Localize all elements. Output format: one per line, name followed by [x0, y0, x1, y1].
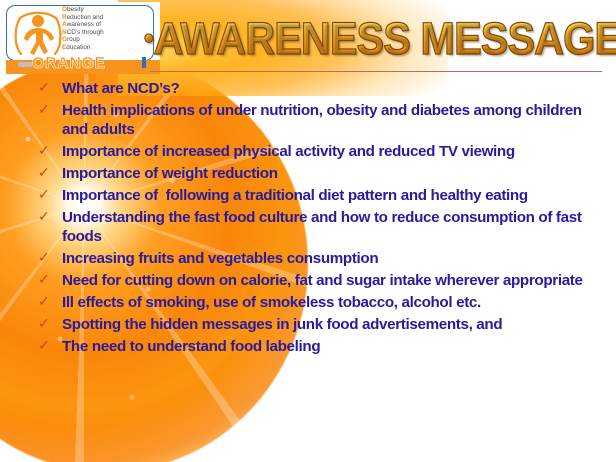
list-item: ✓ Ill effects of smoking, use of smokele… — [34, 293, 610, 312]
list-item-label: Need for cutting down on calorie, fat an… — [62, 271, 610, 290]
list-item: ✓ Importance of following a traditional … — [34, 186, 610, 205]
list-item: ✓ Spotting the hidden messages in junk f… — [34, 315, 610, 334]
list-item: ✓ Importance of weight reduction — [34, 164, 610, 183]
check-icon: ✓ — [34, 164, 62, 183]
check-icon: ✓ — [34, 249, 62, 268]
list-item-label: What are NCD’s? — [62, 79, 610, 98]
list-item-label: Spotting the hidden messages in junk foo… — [62, 315, 610, 334]
logo-line-reduction: Reduction and — [62, 14, 154, 22]
check-icon: ✓ — [34, 293, 62, 312]
skipping-person-icon — [12, 8, 64, 60]
list-item: ✓ Understanding the fast food culture an… — [34, 208, 610, 246]
title-bullet-icon: • — [144, 22, 153, 56]
list-item: ✓ Need for cutting down on calorie, fat … — [34, 271, 610, 290]
logo-line-group: Group — [62, 36, 154, 44]
title-underline-rule — [150, 71, 602, 72]
list-item-label: Importance of weight reduction — [62, 164, 610, 183]
check-icon: ✓ — [34, 142, 62, 161]
logo-rest-o: besity — [67, 6, 84, 13]
check-icon: ✓ — [34, 315, 62, 334]
logo-rest-g: roup — [67, 36, 80, 43]
list-item-label: Health implications of under nutrition, … — [62, 101, 610, 139]
list-item: ✓ Health implications of under nutrition… — [34, 101, 610, 139]
logo-line-awareness: Awareness of — [62, 21, 154, 29]
orange-logo: Obesity Reduction and Awareness of NCD's… — [2, 2, 160, 74]
logo-rest-e: ducation — [66, 44, 90, 51]
check-icon: ✓ — [34, 186, 62, 205]
logo-line-ncd: NCD's through — [62, 29, 154, 37]
presentation-slide: Obesity Reduction and Awareness of NCD's… — [0, 0, 616, 462]
slide-title: •AWARENESS MESSAGES — [144, 13, 616, 65]
logo-expansion-text: Obesity Reduction and Awareness of NCD's… — [62, 6, 154, 52]
check-icon: ✓ — [34, 208, 62, 227]
list-item: ✓ What are NCD’s? — [34, 79, 610, 98]
list-item-label: Importance of following a traditional di… — [62, 186, 610, 205]
logo-rest-n: CD's through — [67, 29, 104, 36]
list-item-label: Importance of increased physical activit… — [62, 142, 610, 161]
list-item: ✓ Increasing fruits and vegetables consu… — [34, 249, 610, 268]
logo-rest-r: eduction and — [67, 14, 104, 21]
logo-rest-a: wareness of — [67, 21, 101, 28]
logo-wordmark: ORANGE — [32, 55, 106, 73]
logo-dots-mark — [18, 62, 32, 67]
check-icon: ✓ — [34, 101, 62, 120]
logo-line-obesity: Obesity — [62, 6, 154, 14]
list-item-label: Increasing fruits and vegetables consump… — [62, 249, 610, 268]
awareness-message-list: ✓ What are NCD’s? ✓ Health implications … — [34, 79, 610, 359]
check-icon: ✓ — [34, 79, 62, 98]
check-icon: ✓ — [34, 271, 62, 290]
logo-line-education: Education — [62, 44, 154, 52]
check-icon: ✓ — [34, 337, 62, 356]
list-item-label: Understanding the fast food culture and … — [62, 208, 610, 246]
list-item: ✓ The need to understand food labeling — [34, 337, 610, 356]
list-item-label: Ill effects of smoking, use of smokeless… — [62, 293, 610, 312]
list-item: ✓ Importance of increased physical activ… — [34, 142, 610, 161]
slide-title-text: AWARENESS MESSAGES — [154, 13, 616, 65]
list-item-label: The need to understand food labeling — [62, 337, 610, 356]
